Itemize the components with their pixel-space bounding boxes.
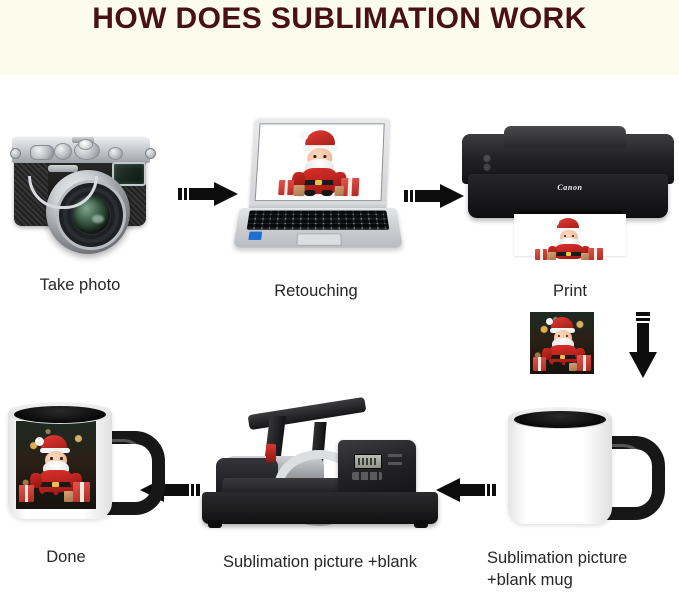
- santa-artwork-screen: [256, 124, 384, 200]
- caption-blank-mug-line1: Sublimation picture: [487, 549, 627, 567]
- camera-dial-compensation: [108, 147, 123, 160]
- laptop-touchpad: [296, 233, 342, 245]
- printed-photo-image: [530, 312, 594, 374]
- camera-lens-reflection: [92, 215, 104, 223]
- camera-icon: [8, 118, 156, 254]
- caption-take-photo: Take photo: [0, 274, 160, 296]
- mug-heat-press-icon: [196, 400, 444, 542]
- arrow-laptop-to-printer: [404, 182, 466, 210]
- printer-output-paper: [514, 214, 626, 256]
- press-power-button[interactable]: [266, 444, 276, 462]
- blank-mug-icon: [508, 412, 658, 530]
- caption-heat-press: Sublimation picture +blank: [175, 551, 465, 573]
- finished-mug-interior: [14, 406, 106, 423]
- printer-icon: Canon: [462, 126, 674, 256]
- printer-scanner-lid: [504, 126, 626, 148]
- caption-blank-mug: Sublimation picture +blank mug: [487, 547, 679, 592]
- arrow-camera-to-laptop: [178, 180, 240, 208]
- caption-retouching: Retouching: [232, 280, 400, 302]
- camera-nameplate: [48, 165, 78, 172]
- title-band: HOW DOES SUBLIMATION WORK: [0, 0, 679, 75]
- laptop-keyboard: [247, 211, 390, 230]
- laptop-base: [233, 208, 403, 248]
- arrow-printer-to-photo: [626, 312, 660, 382]
- press-base: [202, 492, 438, 524]
- finished-mug-icon: [8, 407, 158, 525]
- finished-mug-print: [16, 421, 96, 509]
- camera-dial-exposure: [30, 145, 54, 160]
- press-lcd-display: [354, 454, 382, 469]
- caption-blank-mug-line2: +blank mug: [487, 571, 573, 589]
- printer-control-buttons: [474, 154, 500, 176]
- camera-shutter-button: [78, 139, 93, 150]
- caption-done: Done: [0, 546, 132, 568]
- santa-artwork-print: [514, 214, 626, 256]
- press-foot-right: [414, 520, 428, 528]
- printer-brand-logo: Canon: [546, 183, 594, 192]
- printed-photo-icon: [516, 310, 608, 388]
- blank-mug-interior: [514, 411, 606, 428]
- camera-strap-lug-left: [10, 148, 21, 159]
- caption-print: Print: [490, 280, 650, 302]
- press-lever-arm: [248, 397, 367, 430]
- laptop-icon: [236, 118, 396, 258]
- page-title: HOW DOES SUBLIMATION WORK: [0, 2, 679, 36]
- windows-badge-icon: [248, 232, 262, 240]
- press-keypad[interactable]: [352, 472, 382, 480]
- santa-artwork-photo: [530, 312, 594, 374]
- press-foot-left: [208, 520, 222, 528]
- press-indicator-leds: [388, 454, 402, 476]
- laptop-screen: [255, 123, 385, 201]
- santa-artwork-mug: [16, 421, 96, 509]
- camera-dial-iso: [54, 143, 72, 160]
- laptop-lid: [249, 118, 390, 210]
- camera-strap-lug-right: [145, 148, 156, 159]
- infographic-page: HOW DOES SUBLIMATION WORK Take photo: [0, 0, 679, 603]
- camera-top-plate: [12, 136, 150, 163]
